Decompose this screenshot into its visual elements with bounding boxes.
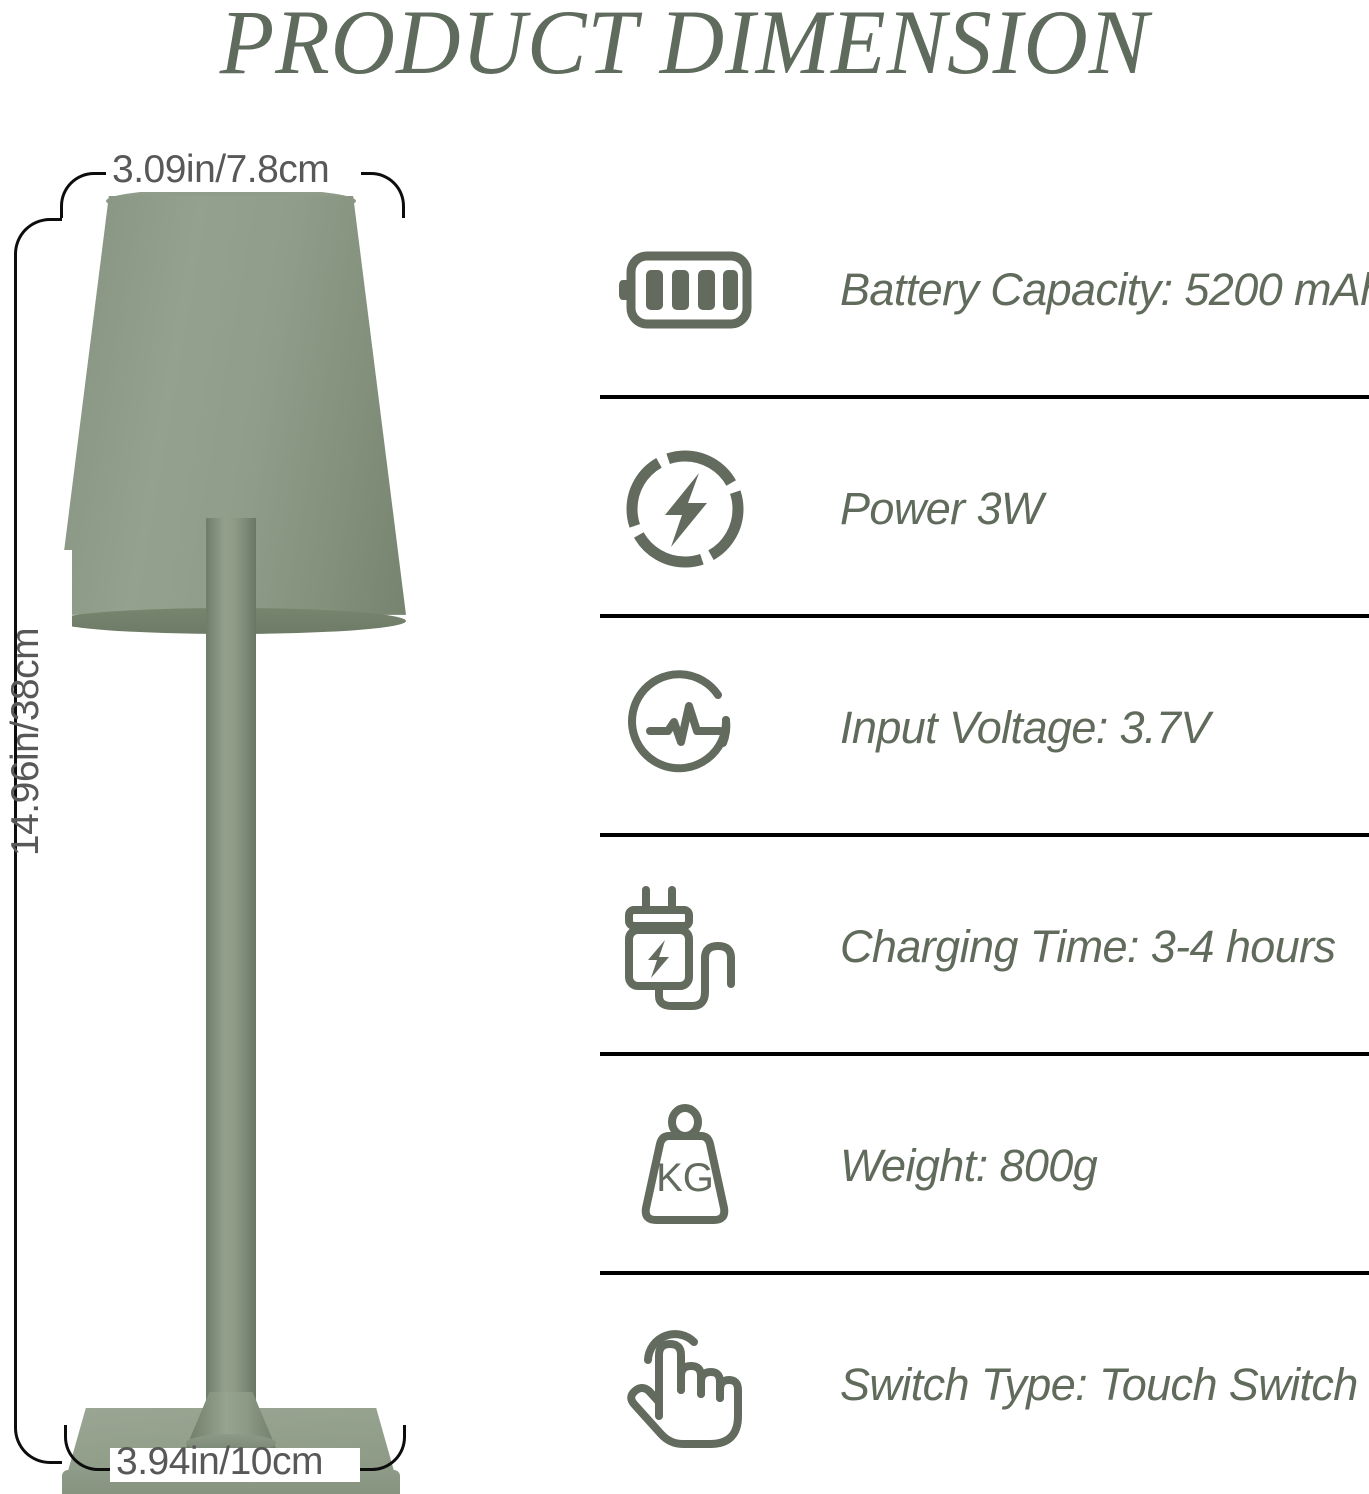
spec-label-battery-capacity: Battery Capacity: 5200 mAh <box>840 265 1369 315</box>
spec-row-weight: KG Weight: 800g <box>600 1056 1369 1275</box>
weight-icon-kg-text: KG <box>656 1156 714 1200</box>
spec-row-input-voltage: Input Voltage: 3.7V <box>600 618 1369 837</box>
spec-label-switch-type: Switch Type: Touch Switch <box>840 1360 1369 1410</box>
spec-label-weight: Weight: 800g <box>840 1141 1369 1191</box>
battery-icon <box>610 225 760 355</box>
width-dimension-label: 3.09in/7.8cm <box>112 148 329 192</box>
touch-hand-icon <box>610 1320 760 1450</box>
spec-label-power: Power 3W <box>840 484 1369 534</box>
spec-label-charging-time: Charging Time: 3-4 hours <box>840 922 1369 972</box>
spec-row-switch-type: Switch Type: Touch Switch <box>600 1275 1369 1494</box>
voltage-pulse-icon <box>610 663 760 793</box>
power-bolt-icon <box>610 444 760 574</box>
product-dimension-infographic: PRODUCT DIMENSION 3.09in/7.8cm 14.96in/3… <box>0 0 1369 1494</box>
specification-list: Battery Capacity: 5200 mAh Power 3W <box>600 180 1369 1494</box>
height-dimension-label: 14.96in/38cm <box>4 582 48 902</box>
spec-row-battery-capacity: Battery Capacity: 5200 mAh <box>600 180 1369 399</box>
weight-kg-icon: KG <box>610 1101 760 1231</box>
product-diagram-panel: 3.09in/7.8cm 14.96in/38cm 3.94in/10cm <box>0 120 600 1494</box>
spec-label-input-voltage: Input Voltage: 3.7V <box>840 703 1369 753</box>
lamp-stem <box>206 518 256 1428</box>
page-title: PRODUCT DIMENSION <box>21 0 1349 88</box>
spec-row-power: Power 3W <box>600 399 1369 618</box>
spec-row-charging-time: Charging Time: 3-4 hours <box>600 837 1369 1056</box>
charger-plug-icon <box>610 882 760 1012</box>
base-width-dimension-label: 3.94in/10cm <box>116 1440 323 1484</box>
